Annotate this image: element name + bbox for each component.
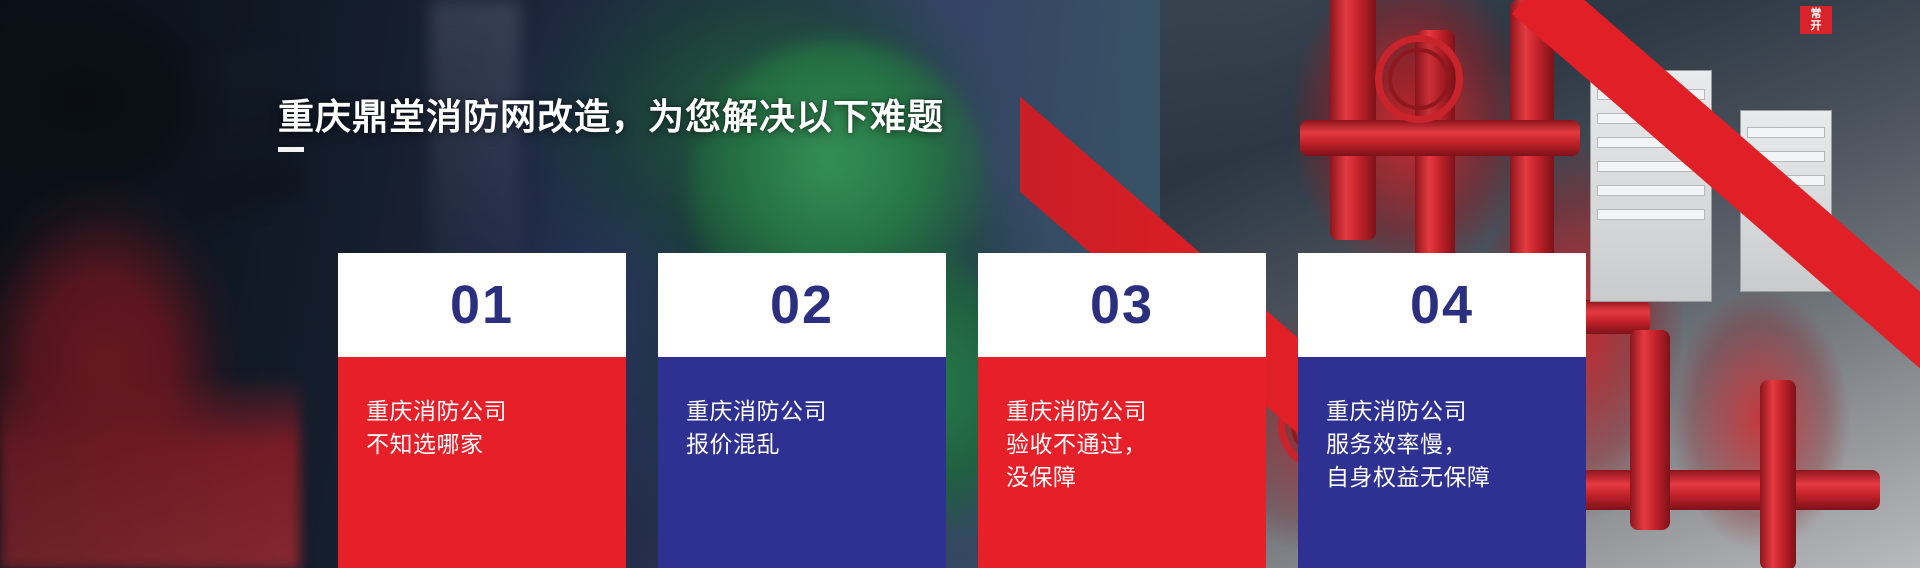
card-body: 重庆消防公司 服务效率慢， 自身权益无保障 (1298, 357, 1586, 568)
page-title: 重庆鼎堂消防网改造，为您解决以下难题 (278, 88, 944, 140)
banner-content: 重庆鼎堂消防网改造，为您解决以下难题 01 重庆消防公司 不知选哪家 02 重庆… (0, 0, 1920, 568)
pain-point-card-01[interactable]: 01 重庆消防公司 不知选哪家 (338, 253, 626, 568)
card-text-line: 不知选哪家 (366, 428, 598, 461)
card-body: 重庆消防公司 验收不通过， 没保障 (978, 357, 1266, 568)
card-number-box: 03 (978, 253, 1266, 357)
card-text-line: 重庆消防公司 (366, 395, 598, 428)
card-text-line: 重庆消防公司 (1326, 395, 1558, 428)
card-number-box: 01 (338, 253, 626, 357)
card-number: 01 (450, 278, 514, 332)
card-text-line: 重庆消防公司 (686, 395, 918, 428)
card-text-line: 验收不通过， (1006, 428, 1238, 461)
card-text-line: 自身权益无保障 (1326, 461, 1558, 494)
pain-point-card-04[interactable]: 04 重庆消防公司 服务效率慢， 自身权益无保障 (1298, 253, 1586, 568)
card-text-line: 重庆消防公司 (1006, 395, 1238, 428)
pain-point-card-02[interactable]: 02 重庆消防公司 报价混乱 (658, 253, 946, 568)
card-body: 重庆消防公司 报价混乱 (658, 357, 946, 568)
card-body: 重庆消防公司 不知选哪家 (338, 357, 626, 568)
pain-point-card-list: 01 重庆消防公司 不知选哪家 02 重庆消防公司 报价混乱 03 (338, 253, 1586, 568)
pain-point-card-03[interactable]: 03 重庆消防公司 验收不通过， 没保障 (978, 253, 1266, 568)
promo-banner: 常开 常闭 常闭 重庆鼎堂消防网改造，为您解决以下难题 01 重庆消防公司 不知… (0, 0, 1920, 568)
title-underline-rule (278, 147, 304, 152)
card-number-box: 04 (1298, 253, 1586, 357)
card-text-line: 服务效率慢， (1326, 428, 1558, 461)
card-number-box: 02 (658, 253, 946, 357)
card-text-line: 报价混乱 (686, 428, 918, 461)
card-text-line: 没保障 (1006, 461, 1238, 494)
card-number: 03 (1090, 278, 1154, 332)
card-number: 04 (1410, 278, 1474, 332)
card-number: 02 (770, 278, 834, 332)
